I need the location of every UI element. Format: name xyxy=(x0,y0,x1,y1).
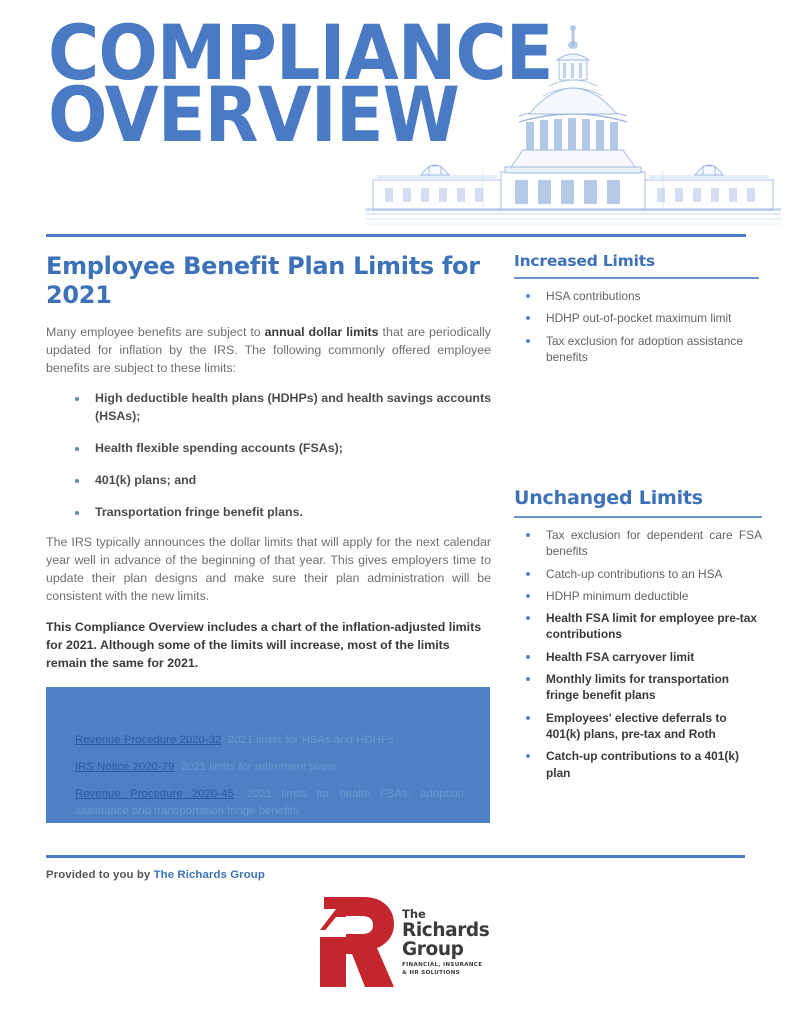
list-item: Health flexible spending accounts (FSAs)… xyxy=(46,440,491,458)
document-page: COMPLIANCE OVERVIEW Employee Benefit Pla… xyxy=(0,0,791,1024)
logo-tagline-line-2: & HR SOLUTIONS xyxy=(402,970,502,978)
footer-prefix: Provided to you by xyxy=(46,869,154,881)
banner-title-line-2: OVERVIEW xyxy=(48,84,553,146)
unchanged-limits-section: Unchanged Limits Tax exclusion for depen… xyxy=(514,487,762,787)
footer-attribution: Provided to you by The Richards Group xyxy=(46,869,265,881)
logo-line-group: Group xyxy=(402,940,502,959)
list-item: HDHP minimum deductible xyxy=(514,588,762,604)
logo-tagline: FINANCIAL, INSURANCE & HR SOLUTIONS xyxy=(402,962,502,977)
list-item: Health FSA carryover limit xyxy=(514,649,762,665)
page-title: COMPLIANCE OVERVIEW xyxy=(48,22,597,147)
header-banner: COMPLIANCE OVERVIEW xyxy=(0,0,791,237)
banner-divider xyxy=(46,234,746,237)
list-item: Transportation fringe benefit plans. xyxy=(46,504,491,522)
logo-wordmark: The Richards Group FINANCIAL, INSURANCE … xyxy=(402,909,502,977)
list-item: IRS Notice 2020-79: 2021 limits for reti… xyxy=(75,759,464,776)
section-divider xyxy=(514,516,762,518)
list-item: Catch-up contributions to a 401(k) plan xyxy=(514,748,762,781)
link-description: : 2021 limits for HSAs and HDHPs xyxy=(221,734,394,746)
letter-r-monogram-icon xyxy=(318,897,394,987)
unchanged-limits-list: Tax exclusion for dependent care FSA ben… xyxy=(514,527,762,781)
intro-text-part-1: Many employee benefits are subject to xyxy=(46,325,265,339)
list-item: High deductible health plans (HDHPs) and… xyxy=(46,390,491,426)
list-item: Tax exclusion for dependent care FSA ben… xyxy=(514,527,762,560)
increased-limits-section: Increased Limits HSA contributions HDHP … xyxy=(514,252,759,371)
resource-links-box: Revenue Procedure 2020-32: 2021 limits f… xyxy=(46,687,490,823)
logo-tagline-line-1: FINANCIAL, INSURANCE xyxy=(402,962,502,970)
link-revenue-procedure-2020-45[interactable]: Revenue Procedure 2020-45 xyxy=(75,788,234,800)
increased-limits-heading: Increased Limits xyxy=(514,252,759,270)
link-description: : 2021 limits for retirement plans xyxy=(174,761,336,773)
main-content-column: Employee Benefit Plan Limits for 2021 Ma… xyxy=(46,252,491,686)
logo-line-richards: Richards xyxy=(402,921,502,940)
list-item: 401(k) plans; and xyxy=(46,472,491,490)
link-revenue-procedure-2020-32[interactable]: Revenue Procedure 2020-32 xyxy=(75,734,221,746)
list-item: Health FSA limit for employee pre-tax co… xyxy=(514,610,762,643)
list-item: Catch-up contributions to an HSA xyxy=(514,566,762,582)
list-item: Tax exclusion for adoption assistance be… xyxy=(514,333,759,366)
company-logo: The Richards Group FINANCIAL, INSURANCE … xyxy=(318,897,498,989)
increased-limits-list: HSA contributions HDHP out-of-pocket max… xyxy=(514,288,759,365)
link-irs-notice-2020-79[interactable]: IRS Notice 2020-79 xyxy=(75,761,174,773)
section-divider xyxy=(514,277,759,279)
footer-divider xyxy=(46,855,745,858)
logo-line-the: The xyxy=(402,909,502,921)
list-item: Revenue Procedure 2020-32: 2021 limits f… xyxy=(75,732,464,749)
list-item: Revenue Procedure 2020-45: 2021 limits f… xyxy=(75,786,464,820)
paragraph-irs-announcement: The IRS typically announces the dollar l… xyxy=(46,534,491,606)
document-heading: Employee Benefit Plan Limits for 2021 xyxy=(46,252,491,311)
list-item: Employees' elective deferrals to 401(k) … xyxy=(514,710,762,743)
paragraph-overview-summary: This Compliance Overview includes a char… xyxy=(46,619,491,673)
intro-paragraph: Many employee benefits are subject to an… xyxy=(46,324,491,378)
list-item: HDHP out-of-pocket maximum limit xyxy=(514,310,759,326)
list-item: Monthly limits for transportation fringe… xyxy=(514,671,762,704)
unchanged-limits-heading: Unchanged Limits xyxy=(514,487,762,509)
benefit-types-list: High deductible health plans (HDHPs) and… xyxy=(46,390,491,521)
list-item: HSA contributions xyxy=(514,288,759,304)
footer-brand-name: The Richards Group xyxy=(154,869,265,881)
intro-emphasis: annual dollar limits xyxy=(265,325,379,339)
